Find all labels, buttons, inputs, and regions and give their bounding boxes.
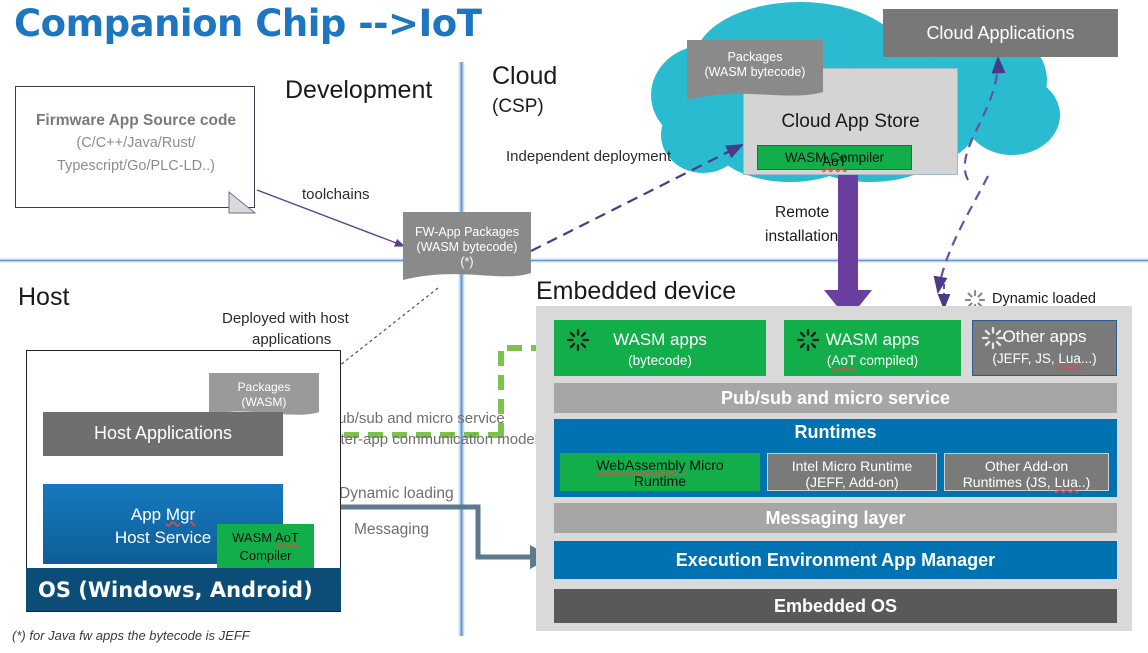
label-deployed-with-host-1: Deployed with host [222,310,349,327]
fw-packages-line1: FW-App Packages [403,225,531,240]
embedded-messaging-layer-label: Messaging layer [554,508,1117,529]
runtime-0-line1: WebAssembly Micro [560,457,760,473]
section-heading-cloud: Cloud [492,62,557,91]
app-mgr-label: App Mgr [43,505,283,525]
firmware-source-title: Firmware App Source code [16,112,256,130]
label-deployed-with-host-2: applications [252,331,331,348]
runtime-2-line1: Other Add-on [945,458,1108,474]
label-remote-installation-1: Remote [775,204,829,222]
embedded-pubsub-bar[interactable]: Pub/sub and micro service [554,383,1117,413]
fw-packages-line3: (*) [403,255,531,270]
embedded-os-bar: Embedded OS [554,589,1117,623]
page-title: Companion Chip -->IoT [14,2,481,45]
section-heading-host: Host [18,283,69,312]
host-os-bar: OS (Windows, Android) [26,568,341,611]
embedded-app-manager-label: Execution Environment App Manager [554,550,1117,571]
label-toolchains: toolchains [302,186,370,203]
runtime-2-line2: Runtimes (JS, Lua..) [945,474,1108,490]
firmware-source-box: Firmware App Source code (C/C++/Java/Rus… [15,86,255,208]
host-packages-line2: (WASM) [209,395,319,410]
fw-app-packages-callout: FW-App Packages (WASM bytecode) (*) [403,212,531,282]
label-pubsub-micro-service: Pub/sub and micro service [328,410,505,427]
host-aot-compiler-box[interactable]: WASM AoT Compiler [217,524,314,572]
cloud-applications-box[interactable]: Cloud Applications [883,9,1118,57]
host-applications-box[interactable]: Host Applications [43,412,283,456]
fw-packages-text: FW-App Packages (WASM bytecode) (*) [403,225,531,270]
section-heading-cloud-sub: (CSP) [492,96,544,118]
label-independent-deployment: Independent deployment [506,148,671,165]
footnote-jeff: (*) for Java fw apps the bytecode is JEF… [12,628,250,643]
embedded-app-manager-bar[interactable]: Execution Environment App Manager [554,541,1117,579]
firmware-source-langs-1: (C/C++/Java/Rust/ [16,135,256,151]
runtime-0-line2: Runtime [560,473,760,489]
horizontal-divider [0,258,1148,263]
host-aot-line2: Compiler [217,548,314,563]
label-remote-installation-2: installation [765,228,838,246]
arrow-to-cloud-applications [965,58,998,180]
embedded-app-box-other[interactable]: Other apps (JEFF, JS, Lua...) [972,320,1117,376]
cloud-app-store-label: Cloud App Store [744,111,957,133]
embedded-app-sub-0: (bytecode) [554,353,766,368]
cloud-applications-label: Cloud Applications [883,23,1118,44]
embedded-app-box-wasm-bytecode[interactable]: WASM apps (bytecode) [554,320,766,376]
runtime-box-intel-micro[interactable]: Intel Micro Runtime (JEFF, Add-on) [767,453,937,491]
section-heading-embedded: Embedded device [536,277,736,306]
embedded-pubsub-label: Pub/sub and micro service [554,388,1117,409]
host-packages-text: Packages (WASM) [209,380,319,410]
embedded-app-sub-2: (JEFF, JS, Lua...) [973,351,1116,366]
label-dynamic-loaded-legend: Dynamic loaded [992,291,1096,307]
runtime-1-line2: (JEFF, Add-on) [768,474,936,490]
host-packages-line1: Packages [209,380,319,395]
cloud-aot-compiler-label: WASM AoT Compiler [758,150,911,165]
embedded-app-box-wasm-aot[interactable]: WASM apps (AoT compiled) [784,320,961,376]
fw-packages-line2: (WASM bytecode) [403,240,531,255]
cloud-packages-text: Packages (WASM bytecode) [687,50,823,80]
embedded-os-label: Embedded OS [554,596,1117,617]
cloud-aot-compiler-box[interactable]: WASM AoT Compiler [757,145,912,170]
label-dynamic-loading: Dynamic loading [339,485,454,503]
embedded-runtimes-title: Runtimes [554,422,1117,443]
label-messaging: Messaging [354,521,429,539]
embedded-app-sub-1: (AoT compiled) [784,353,961,368]
embedded-app-title-0: WASM apps [554,330,766,350]
embedded-app-title-1: WASM apps [784,330,961,350]
runtime-box-other-addon[interactable]: Other Add-on Runtimes (JS, Lua..) [944,453,1109,491]
host-aot-line1: WASM AoT [217,530,314,545]
host-os-label: OS (Windows, Android) [38,578,313,602]
host-applications-label: Host Applications [43,423,283,444]
embedded-app-title-2: Other apps [973,327,1116,347]
embedded-messaging-layer-bar[interactable]: Messaging layer [554,503,1117,533]
section-heading-development: Development [285,76,432,105]
cloud-packages-line1: Packages [687,50,823,65]
cloud-packages-line2: (WASM bytecode) [687,65,823,80]
cloud-packages-callout: Packages (WASM bytecode) [687,40,823,100]
firmware-source-langs-2: Typescript/Go/PLC-LD..) [16,158,256,174]
runtime-1-line1: Intel Micro Runtime [768,458,936,474]
runtime-box-wamr[interactable]: WebAssembly Micro Runtime [560,453,760,491]
label-inter-app-communication: Inter-app communication models [328,431,546,448]
vertical-divider [458,62,465,636]
arrow-dynamic-download [938,176,988,292]
embedded-runtimes-block: Runtimes WebAssembly Micro Runtime Intel… [554,419,1117,497]
